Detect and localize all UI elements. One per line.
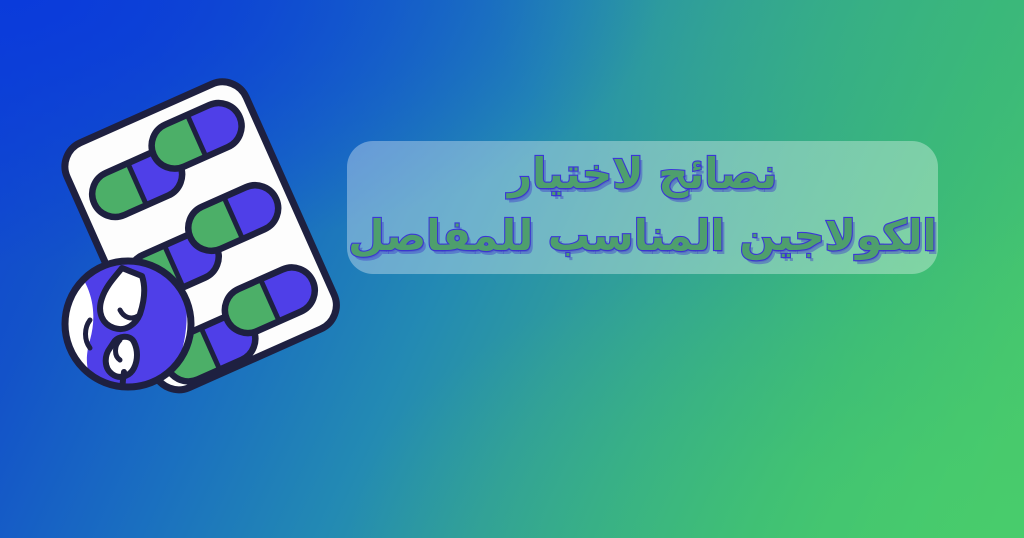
headline-line-2: الكولاجين المناسب للمفاصل [348, 206, 937, 266]
promo-banner: نصائح لاختيار الكولاجين المناسب للمفاصل [0, 0, 1024, 538]
page-title: نصائح لاختيار الكولاجين المناسب للمفاصل [348, 144, 937, 265]
headline-line-1: نصائح لاختيار [348, 144, 937, 204]
headline-panel: نصائح لاختيار الكولاجين المناسب للمفاصل [347, 141, 938, 274]
collagen-supplement-and-joint-illustration [62, 72, 362, 412]
